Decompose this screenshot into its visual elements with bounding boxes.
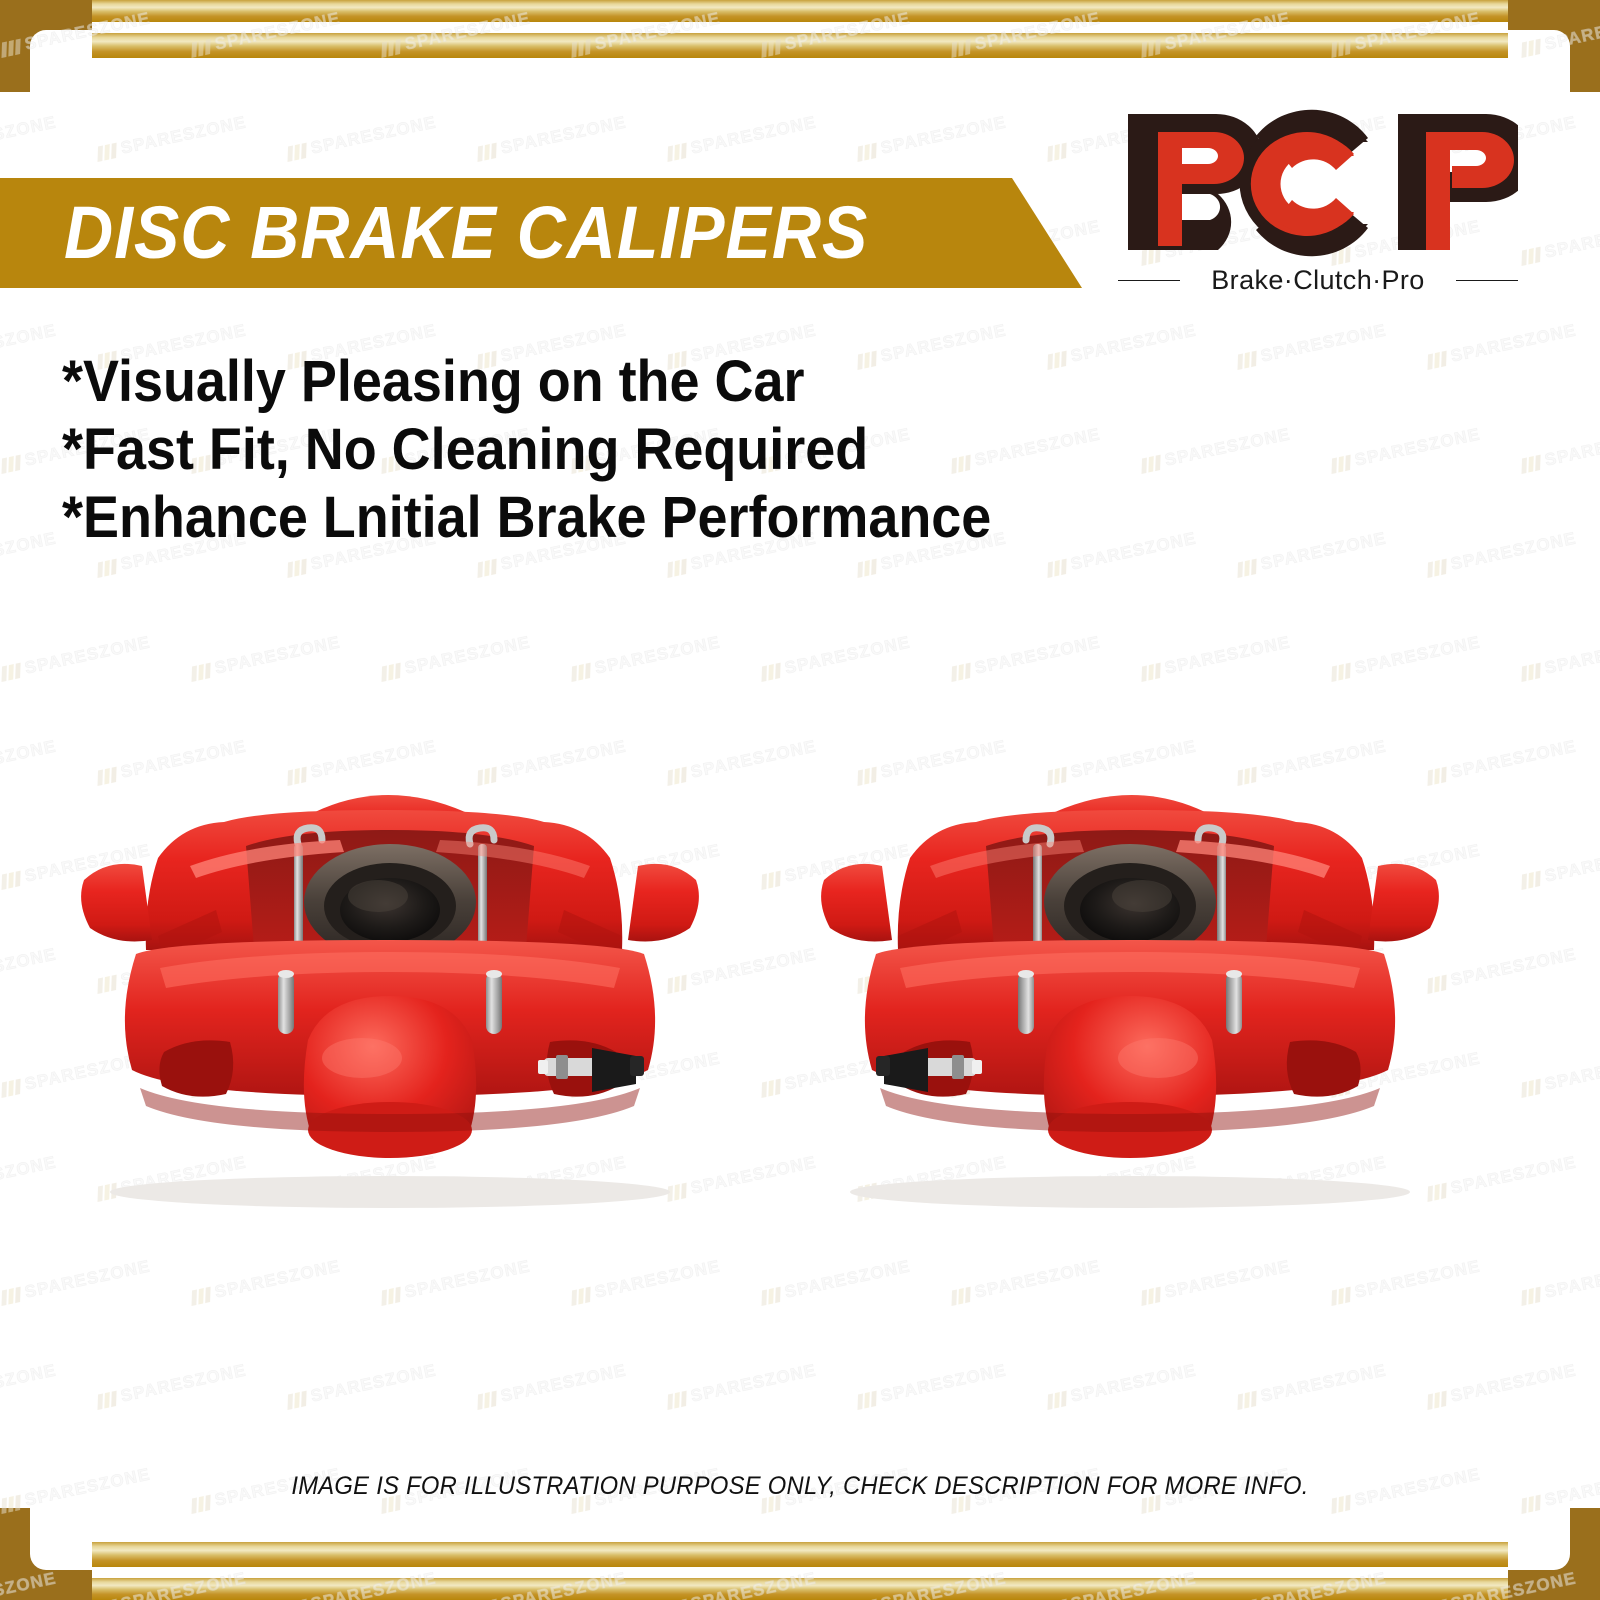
watermark-text: SPARESZONE bbox=[1543, 1256, 1600, 1302]
watermark-tile: SPARESZONE bbox=[1426, 528, 1579, 579]
feature-item-1: *Visually Pleasing on the Car bbox=[62, 348, 991, 416]
watermark-tile: SPARESZONE bbox=[476, 1360, 629, 1411]
caliper-ear-left bbox=[1368, 864, 1439, 942]
spareszone-mark-icon bbox=[1236, 351, 1258, 370]
frame-corner-notch bbox=[1508, 30, 1570, 92]
watermark-text: SPARESZONE bbox=[213, 632, 342, 678]
spareszone-mark-icon bbox=[1236, 559, 1258, 578]
guide-pin-left bbox=[1226, 970, 1242, 1034]
watermark-tile: SPARESZONE bbox=[1520, 216, 1600, 267]
frame-corner-top-right bbox=[1508, 0, 1600, 92]
watermark-tile: SPARESZONE bbox=[1520, 632, 1600, 683]
watermark-text: SPARESZONE bbox=[309, 1360, 438, 1406]
watermark-text: SPARESZONE bbox=[1543, 216, 1600, 262]
product-shadow bbox=[110, 1176, 670, 1208]
brand-logo: Brake·Clutch·Pro bbox=[1118, 96, 1518, 296]
spareszone-mark-icon bbox=[1046, 1391, 1068, 1410]
watermark-text: SPARESZONE bbox=[1069, 1360, 1198, 1406]
watermark-text: SPARESZONE bbox=[1259, 1360, 1388, 1406]
spareszone-mark-icon bbox=[1236, 1391, 1258, 1410]
watermark-tile: SPARESZONE bbox=[0, 112, 58, 163]
watermark-tile: SPARESZONE bbox=[190, 632, 343, 683]
watermark-text: SPARESZONE bbox=[1069, 528, 1198, 574]
watermark-text: SPARESZONE bbox=[309, 112, 438, 158]
watermark-tile: SPARESZONE bbox=[96, 112, 249, 163]
caliper-ear-right bbox=[628, 864, 699, 942]
spareszone-mark-icon bbox=[380, 663, 402, 682]
spareszone-mark-icon bbox=[666, 1391, 688, 1410]
watermark-text: SPARESZONE bbox=[973, 1256, 1102, 1302]
spareszone-mark-icon bbox=[476, 1391, 498, 1410]
watermark-tile: SPARESZONE bbox=[760, 632, 913, 683]
product-shadow bbox=[850, 1176, 1410, 1208]
spareszone-mark-icon bbox=[476, 559, 498, 578]
spareszone-mark-icon bbox=[856, 559, 878, 578]
caliper-right bbox=[780, 740, 1480, 1210]
watermark-tile: SPARESZONE bbox=[1046, 1360, 1199, 1411]
logo-tagline-row: Brake·Clutch·Pro bbox=[1118, 265, 1518, 296]
pocket-left bbox=[159, 1040, 233, 1096]
watermark-text: SPARESZONE bbox=[0, 112, 58, 158]
guide-pin-right bbox=[1018, 970, 1034, 1034]
feature-item-3: *Enhance Lnitial Brake Performance bbox=[62, 484, 991, 552]
frame-corner-bottom-left bbox=[0, 1508, 92, 1600]
spareszone-mark-icon bbox=[1330, 1287, 1352, 1306]
watermark-tile: SPARESZONE bbox=[1236, 528, 1389, 579]
watermark-text: SPARESZONE bbox=[973, 632, 1102, 678]
watermark-tile: SPARESZONE bbox=[666, 1360, 819, 1411]
spareszone-mark-icon bbox=[1140, 455, 1162, 474]
watermark-tile: SPARESZONE bbox=[1426, 1360, 1579, 1411]
watermark-tile: SPARESZONE bbox=[190, 1256, 343, 1307]
watermark-text: SPARESZONE bbox=[0, 1360, 58, 1406]
watermark-text: SPARESZONE bbox=[23, 1256, 152, 1302]
spareszone-mark-icon bbox=[856, 1391, 878, 1410]
watermark-text: SPARESZONE bbox=[1353, 424, 1482, 470]
watermark-text: SPARESZONE bbox=[0, 528, 58, 574]
page-title: DISC BRAKE CALIPERS bbox=[64, 181, 868, 285]
spareszone-mark-icon bbox=[760, 663, 782, 682]
watermark-text: SPARESZONE bbox=[0, 320, 58, 366]
watermark-tile: SPARESZONE bbox=[0, 1360, 58, 1411]
watermark-tile: SPARESZONE bbox=[1520, 1256, 1600, 1307]
watermark-text: SPARESZONE bbox=[1163, 632, 1292, 678]
spareszone-mark-icon bbox=[0, 455, 22, 474]
spareszone-mark-icon bbox=[190, 1287, 212, 1306]
watermark-text: SPARESZONE bbox=[1543, 632, 1600, 678]
spareszone-mark-icon bbox=[96, 1391, 118, 1410]
frame-band-top-outer bbox=[0, 0, 1600, 22]
spareszone-mark-icon bbox=[1330, 663, 1352, 682]
watermark-tile: SPARESZONE bbox=[1426, 320, 1579, 371]
spareszone-mark-icon bbox=[96, 143, 118, 162]
watermark-tile: SPARESZONE bbox=[950, 632, 1103, 683]
spareszone-mark-icon bbox=[570, 663, 592, 682]
watermark-tile: SPARESZONE bbox=[96, 1360, 249, 1411]
spareszone-mark-icon bbox=[1330, 455, 1352, 474]
spareszone-mark-icon bbox=[1520, 1287, 1542, 1306]
spareszone-mark-icon bbox=[950, 1287, 972, 1306]
watermark-text: SPARESZONE bbox=[1353, 1256, 1482, 1302]
watermark-text: SPARESZONE bbox=[499, 1360, 628, 1406]
watermark-text: SPARESZONE bbox=[403, 632, 532, 678]
watermark-text: SPARESZONE bbox=[1449, 320, 1578, 366]
spareszone-mark-icon bbox=[760, 1287, 782, 1306]
product-photo bbox=[0, 740, 1600, 1240]
watermark-tile: SPARESZONE bbox=[0, 528, 58, 579]
frame-corner-bottom-right bbox=[1508, 1508, 1600, 1600]
watermark-tile: SPARESZONE bbox=[1330, 424, 1483, 475]
watermark-text: SPARESZONE bbox=[593, 1256, 722, 1302]
watermark-text: SPARESZONE bbox=[23, 632, 152, 678]
watermark-text: SPARESZONE bbox=[1163, 1256, 1292, 1302]
watermark-text: SPARESZONE bbox=[499, 112, 628, 158]
watermark-tile: SPARESZONE bbox=[1330, 632, 1483, 683]
product-image-canvas: SPARESZONESPARESZONESPARESZONESPARESZONE… bbox=[0, 0, 1600, 1600]
bcp-logo-mark bbox=[1118, 96, 1518, 271]
tagline-rule-right bbox=[1456, 280, 1518, 281]
caliper-illustration bbox=[780, 740, 1480, 1210]
watermark-tile: SPARESZONE bbox=[476, 112, 629, 163]
watermark-tile: SPARESZONE bbox=[380, 632, 533, 683]
watermark-tile: SPARESZONE bbox=[570, 1256, 723, 1307]
watermark-text: SPARESZONE bbox=[403, 1256, 532, 1302]
spareszone-mark-icon bbox=[1426, 559, 1448, 578]
watermark-text: SPARESZONE bbox=[1449, 1360, 1578, 1406]
watermark-tile: SPARESZONE bbox=[1520, 424, 1600, 475]
caliper-ear-right bbox=[821, 864, 892, 942]
watermark-text: SPARESZONE bbox=[119, 1360, 248, 1406]
frame-band-bottom-outer bbox=[0, 1578, 1600, 1600]
spareszone-mark-icon bbox=[1140, 663, 1162, 682]
watermark-text: SPARESZONE bbox=[119, 112, 248, 158]
feature-item-2: *Fast Fit, No Cleaning Required bbox=[62, 416, 991, 484]
watermark-text: SPARESZONE bbox=[783, 1256, 912, 1302]
watermark-text: SPARESZONE bbox=[783, 632, 912, 678]
caliper-left bbox=[40, 740, 740, 1210]
spareszone-mark-icon bbox=[190, 663, 212, 682]
watermark-tile: SPARESZONE bbox=[286, 112, 439, 163]
boss-highlight bbox=[1118, 1038, 1198, 1078]
spareszone-mark-icon bbox=[1140, 1287, 1162, 1306]
spareszone-mark-icon bbox=[570, 1287, 592, 1306]
watermark-tile: SPARESZONE bbox=[1140, 1256, 1293, 1307]
spareszone-mark-icon bbox=[1046, 143, 1068, 162]
watermark-tile: SPARESZONE bbox=[0, 1256, 152, 1307]
feature-list: *Visually Pleasing on the Car *Fast Fit,… bbox=[62, 348, 1061, 552]
watermark-tile: SPARESZONE bbox=[1236, 1360, 1389, 1411]
spareszone-mark-icon bbox=[96, 559, 118, 578]
spareszone-mark-icon bbox=[1046, 559, 1068, 578]
watermark-text: SPARESZONE bbox=[1259, 528, 1388, 574]
watermark-tile: SPARESZONE bbox=[286, 1360, 439, 1411]
spareszone-mark-icon bbox=[666, 559, 688, 578]
watermark-tile: SPARESZONE bbox=[1140, 632, 1293, 683]
piston-bore-sheen bbox=[348, 880, 408, 912]
watermark-text: SPARESZONE bbox=[1353, 632, 1482, 678]
spareszone-mark-icon bbox=[380, 1287, 402, 1306]
spareszone-mark-icon bbox=[1520, 663, 1542, 682]
watermark-tile: SPARESZONE bbox=[0, 632, 152, 683]
watermark-text: SPARESZONE bbox=[1259, 320, 1388, 366]
watermark-text: SPARESZONE bbox=[689, 112, 818, 158]
watermark-tile: SPARESZONE bbox=[760, 1256, 913, 1307]
watermark-text: SPARESZONE bbox=[689, 1360, 818, 1406]
spareszone-mark-icon bbox=[286, 143, 308, 162]
spareszone-mark-icon bbox=[286, 1391, 308, 1410]
frame-band-bottom-inner bbox=[0, 1542, 1600, 1567]
watermark-text: SPARESZONE bbox=[879, 112, 1008, 158]
guide-pin-left bbox=[278, 970, 294, 1034]
frame-band-top-inner bbox=[0, 33, 1600, 58]
watermark-text: SPARESZONE bbox=[1449, 528, 1578, 574]
spareszone-mark-icon bbox=[1426, 1391, 1448, 1410]
spareszone-mark-icon bbox=[950, 663, 972, 682]
spareszone-mark-icon bbox=[0, 1287, 22, 1306]
caliper-illustration bbox=[40, 740, 740, 1210]
tagline-rule-left bbox=[1118, 280, 1180, 281]
watermark-tile: SPARESZONE bbox=[570, 632, 723, 683]
caliper-ear-left bbox=[81, 864, 152, 942]
watermark-text: SPARESZONE bbox=[1069, 320, 1198, 366]
logo-tagline: Brake·Clutch·Pro bbox=[1194, 265, 1442, 296]
watermark-text: SPARESZONE bbox=[879, 1360, 1008, 1406]
boss-highlight bbox=[322, 1038, 402, 1078]
illustration-disclaimer: IMAGE IS FOR ILLUSTRATION PURPOSE ONLY, … bbox=[40, 1472, 1560, 1501]
spareszone-mark-icon bbox=[1520, 455, 1542, 474]
spareszone-mark-icon bbox=[1426, 351, 1448, 370]
spareszone-mark-icon bbox=[1520, 247, 1542, 266]
watermark-text: SPARESZONE bbox=[1163, 424, 1292, 470]
spareszone-mark-icon bbox=[476, 143, 498, 162]
watermark-text: SPARESZONE bbox=[213, 1256, 342, 1302]
frame-corner-notch bbox=[1508, 1508, 1570, 1570]
watermark-tile: SPARESZONE bbox=[666, 112, 819, 163]
watermark-tile: SPARESZONE bbox=[856, 112, 1009, 163]
spareszone-mark-icon bbox=[666, 143, 688, 162]
watermark-tile: SPARESZONE bbox=[856, 1360, 1009, 1411]
pocket-left bbox=[1287, 1040, 1361, 1096]
spareszone-mark-icon bbox=[856, 143, 878, 162]
frame-corner-top-left bbox=[0, 0, 92, 92]
watermark-tile: SPARESZONE bbox=[1046, 528, 1199, 579]
watermark-tile: SPARESZONE bbox=[380, 1256, 533, 1307]
guide-pin-right bbox=[486, 970, 502, 1034]
watermark-tile: SPARESZONE bbox=[1236, 320, 1389, 371]
watermark-text: SPARESZONE bbox=[593, 632, 722, 678]
frame-corner-notch bbox=[30, 30, 92, 92]
watermark-tile: SPARESZONE bbox=[1140, 424, 1293, 475]
watermark-tile: SPARESZONE bbox=[950, 1256, 1103, 1307]
watermark-tile: SPARESZONE bbox=[1046, 320, 1199, 371]
piston-bore-sheen bbox=[1112, 880, 1172, 912]
spareszone-mark-icon bbox=[0, 663, 22, 682]
watermark-tile: SPARESZONE bbox=[1330, 1256, 1483, 1307]
watermark-tile: SPARESZONE bbox=[0, 320, 58, 371]
spareszone-mark-icon bbox=[286, 559, 308, 578]
watermark-text: SPARESZONE bbox=[1543, 424, 1600, 470]
frame-corner-notch bbox=[30, 1508, 92, 1570]
